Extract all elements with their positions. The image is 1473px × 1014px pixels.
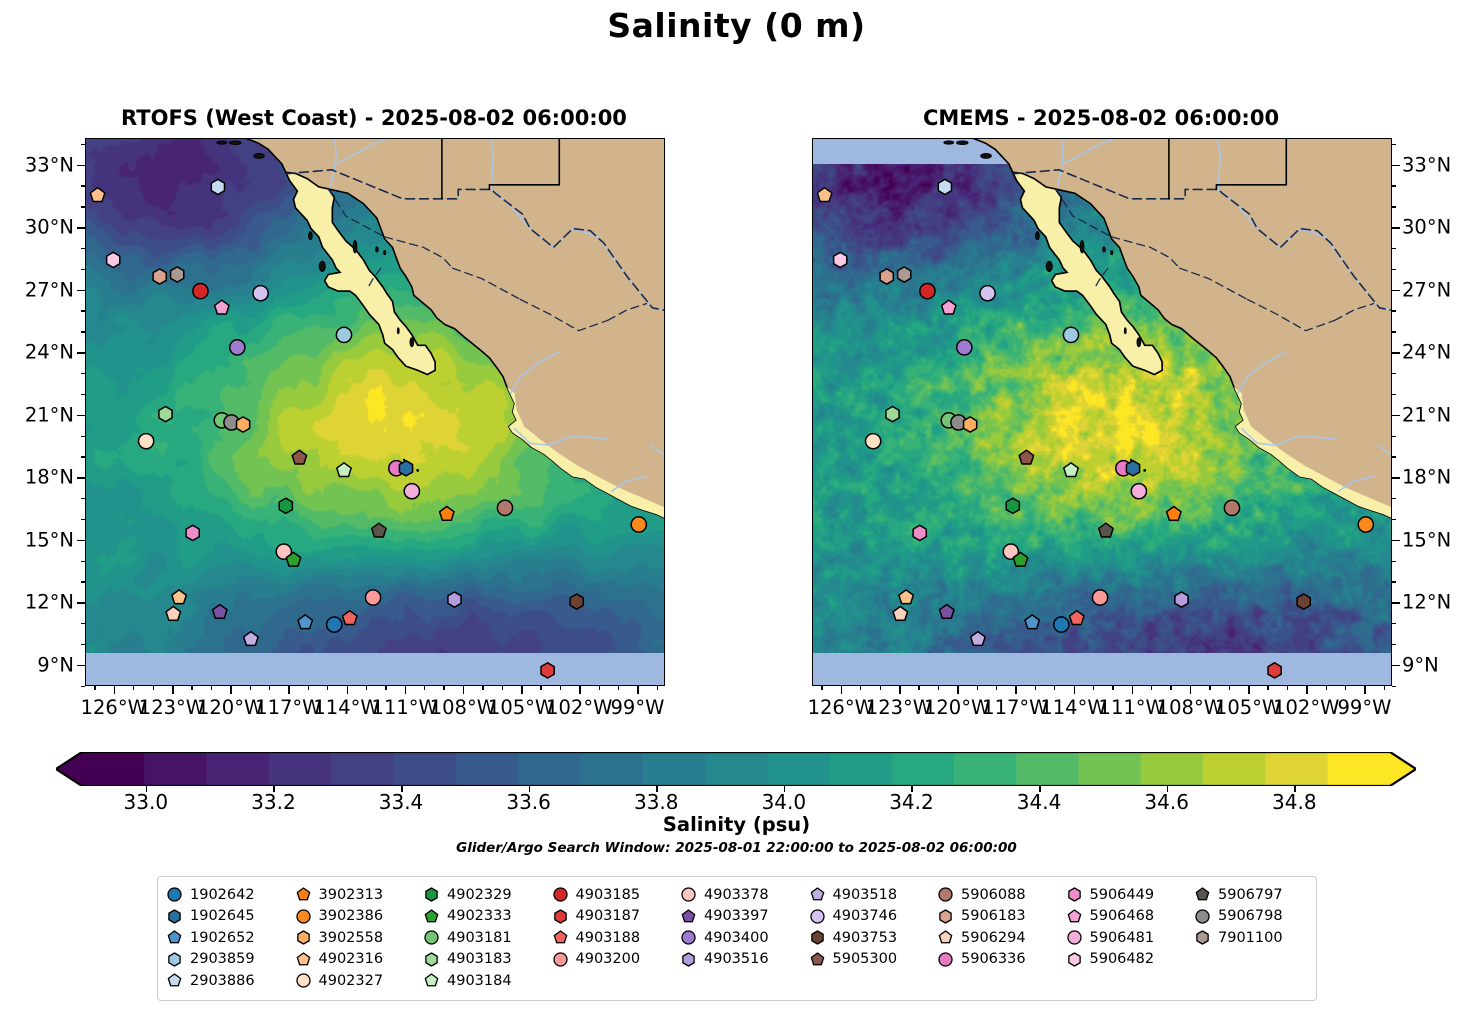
colorbar-segment-2 <box>207 752 270 786</box>
ytick-minor-cmems <box>1392 581 1397 582</box>
legend-label: 1902645 <box>190 908 255 924</box>
xtick-major-2-rtofs <box>230 686 232 694</box>
float-marker-4903518-cmems[interactable] <box>971 632 985 646</box>
ytick-minor-cmems <box>1392 686 1397 687</box>
legend-label: 2903886 <box>190 973 255 989</box>
float-marker-2903859-rtofs[interactable] <box>336 327 351 342</box>
legend-marker-pentagon-icon <box>166 972 183 989</box>
legend-label: 5906336 <box>961 951 1026 967</box>
xtick-major-1-cmems <box>899 686 901 694</box>
legend-label: 4902327 <box>319 973 384 989</box>
float-marker-3902313-rtofs[interactable] <box>440 507 454 521</box>
panel-title-cmems: CMEMS - 2025-08-02 06:00:00 <box>812 106 1390 130</box>
float-marker-1902645-rtofs[interactable] <box>399 461 412 476</box>
legend-entry-4903187[interactable]: 4903187 <box>552 908 681 925</box>
xtick-label-7-rtofs: 105°W <box>488 696 554 719</box>
float-marker-5906183-cmems[interactable] <box>880 269 893 284</box>
ytick-minor-cmems <box>1392 456 1397 457</box>
legend-label: 4903378 <box>704 887 769 903</box>
legend-label: 2903859 <box>190 951 255 967</box>
float-marker-3902558-rtofs[interactable] <box>237 417 250 432</box>
float-marker-2903886-cmems[interactable] <box>938 179 951 194</box>
legend-marker-hexagon-icon <box>809 929 826 946</box>
legend-entry-4903184[interactable]: 4903184 <box>423 972 552 989</box>
legend-entry-5906294[interactable]: 5906294 <box>937 929 1066 946</box>
panel-title-rtofs: RTOFS (West Coast) - 2025-08-02 06:00:00 <box>85 106 663 130</box>
legend-marker-circle-icon <box>295 972 312 989</box>
xtick-minor-cmems <box>860 686 861 691</box>
float-marker-7901100-cmems[interactable] <box>898 267 911 282</box>
xtick-major-3-cmems <box>1015 686 1017 694</box>
legend-marker-hexagon-icon <box>1066 886 1083 903</box>
float-marker-1902652-cmems[interactable] <box>1025 615 1039 629</box>
float-marker-1902642-cmems[interactable] <box>1054 617 1069 632</box>
xtick-major-3-rtofs <box>288 686 290 694</box>
legend-marker-circle-icon <box>1194 908 1211 925</box>
ytick-minor-rtofs <box>81 561 86 562</box>
ytick-minor-rtofs <box>81 373 86 374</box>
xtick-label-3-cmems: 117°W <box>982 696 1048 719</box>
ytick-label-2-rtofs: 27°N <box>25 278 74 301</box>
figure-title: Salinity (0 m) <box>0 6 1473 45</box>
legend-entry-4903397[interactable]: 4903397 <box>680 908 809 925</box>
float-marker-4902329-rtofs[interactable] <box>279 498 292 513</box>
float-legend: 1902642390231349023294903185490337849035… <box>157 876 1317 1001</box>
float-marker-4903397-rtofs[interactable] <box>213 605 227 619</box>
legend-label: 4903200 <box>576 951 641 967</box>
colorbar-tick-label-1: 33.2 <box>251 790 296 814</box>
float-marker-5906449-rtofs[interactable] <box>186 525 199 540</box>
legend-marker-hexagon-icon <box>1194 929 1211 946</box>
float-marker-4903400-cmems[interactable] <box>957 340 972 355</box>
ytick-major-5-rtofs <box>77 477 85 479</box>
xtick-minor-cmems <box>1384 686 1385 691</box>
legend-entry-5906468[interactable]: 5906468 <box>1066 908 1195 925</box>
ytick-minor-cmems <box>1392 623 1397 624</box>
xtick-minor-rtofs <box>211 686 212 691</box>
float-marker-4903397-cmems[interactable] <box>940 605 954 619</box>
ytick-label-5-cmems: 18°N <box>1402 466 1451 489</box>
legend-entry-4902327[interactable]: 4902327 <box>295 972 424 989</box>
xtick-major-9-cmems <box>1364 686 1366 694</box>
ytick-major-7-rtofs <box>77 602 85 604</box>
float-marker-4903185-cmems[interactable] <box>920 284 935 299</box>
float-marker-4903746-cmems[interactable] <box>980 286 995 301</box>
ytick-label-3-cmems: 24°N <box>1402 341 1451 364</box>
ytick-label-5-rtofs: 18°N <box>25 466 74 489</box>
legend-entry-3902386[interactable]: 3902386 <box>295 908 424 925</box>
legend-entry-5906336[interactable]: 5906336 <box>937 951 1066 968</box>
legend-entry-4903518[interactable]: 4903518 <box>809 886 938 903</box>
float-marker-4903400-rtofs[interactable] <box>230 340 245 355</box>
xtick-major-8-rtofs <box>579 686 581 694</box>
xtick-major-7-rtofs <box>521 686 523 694</box>
xtick-minor-rtofs <box>424 686 425 691</box>
float-marker-5906294-rtofs[interactable] <box>166 607 180 621</box>
ytick-major-6-rtofs <box>77 540 85 542</box>
xtick-major-0-rtofs <box>114 686 116 694</box>
ytick-major-4-cmems <box>1392 415 1400 417</box>
colorbar-segment-14 <box>954 752 1017 786</box>
float-markers-cmems <box>813 139 1391 685</box>
legend-label: 5906482 <box>1090 951 1155 967</box>
float-marker-5906088-rtofs[interactable] <box>497 500 512 515</box>
xtick-label-4-cmems: 114°W <box>1040 696 1106 719</box>
legend-entry-4903188[interactable]: 4903188 <box>552 929 681 946</box>
float-marker-4902316-cmems[interactable] <box>817 188 831 202</box>
colorbar-segment-8 <box>580 752 643 786</box>
xtick-minor-rtofs <box>482 686 483 691</box>
legend-entry-5906183[interactable]: 5906183 <box>937 908 1066 925</box>
legend-label: 4903400 <box>704 930 769 946</box>
legend-entry-5906798[interactable]: 5906798 <box>1194 908 1323 925</box>
legend-entry-1902645[interactable]: 1902645 <box>166 908 295 925</box>
xtick-minor-rtofs <box>599 686 600 691</box>
float-marker-4902318-rtofs[interactable] <box>172 590 186 604</box>
float-marker-2903859-cmems[interactable] <box>1063 327 1078 342</box>
legend-label: 4903188 <box>576 930 641 946</box>
float-marker-4903188-cmems[interactable] <box>1070 611 1084 625</box>
xtick-label-0-cmems: 126°W <box>808 696 874 719</box>
float-marker-1902645-cmems[interactable] <box>1126 461 1139 476</box>
legend-entry-7901100[interactable]: 7901100 <box>1194 929 1323 946</box>
legend-label: 5906088 <box>961 887 1026 903</box>
xtick-label-8-rtofs: 102°W <box>546 696 612 719</box>
float-marker-4903753-rtofs[interactable] <box>570 594 583 609</box>
legend-label: 4903516 <box>704 951 769 967</box>
ytick-minor-cmems <box>1392 269 1397 270</box>
legend-entry-4903185[interactable]: 4903185 <box>552 886 681 903</box>
xtick-major-7-cmems <box>1248 686 1250 694</box>
legend-entry-4902329[interactable]: 4902329 <box>423 886 552 903</box>
xtick-minor-cmems <box>1054 686 1055 691</box>
ytick-label-4-cmems: 21°N <box>1402 403 1451 426</box>
ytick-minor-cmems <box>1392 436 1397 437</box>
xtick-major-0-cmems <box>841 686 843 694</box>
xtick-label-5-cmems: 111°W <box>1099 696 1165 719</box>
float-marker-4903200-rtofs[interactable] <box>365 590 380 605</box>
colorbar-extend-max <box>1390 752 1416 786</box>
xtick-label-1-rtofs: 123°W <box>139 696 205 719</box>
legend-entry-4903183[interactable]: 4903183 <box>423 951 552 968</box>
ytick-minor-rtofs <box>81 394 86 395</box>
legend-entry-1902642[interactable]: 1902642 <box>166 886 295 903</box>
float-marker-3902386-cmems[interactable] <box>1358 517 1373 532</box>
float-marker-1902652-rtofs[interactable] <box>298 615 312 629</box>
legend-entry-5906482[interactable]: 5906482 <box>1066 951 1195 968</box>
legend-label: 5906481 <box>1090 930 1155 946</box>
colorbar-segment-17 <box>1141 752 1204 786</box>
legend-label: 4902329 <box>447 887 512 903</box>
colorbar-segment-20 <box>1328 752 1391 786</box>
colorbar-tick-label-2: 33.4 <box>379 790 424 814</box>
legend-marker-pentagon-icon <box>1066 908 1083 925</box>
xtick-minor-rtofs <box>443 686 444 691</box>
ytick-label-1-rtofs: 30°N <box>25 216 74 239</box>
xtick-minor-cmems <box>1035 686 1036 691</box>
legend-marker-pentagon-icon <box>423 908 440 925</box>
float-marker-4903188-rtofs[interactable] <box>343 611 357 625</box>
xtick-label-9-cmems: 99°W <box>1338 696 1392 719</box>
float-marker-7901100-rtofs[interactable] <box>171 267 184 282</box>
float-marker-4902329-cmems[interactable] <box>1006 498 1019 513</box>
panel-cmems: CMEMS - 2025-08-02 06:00:00126°W123°W120… <box>752 104 1460 730</box>
legend-marker-pentagon-icon <box>1194 886 1211 903</box>
ytick-minor-rtofs <box>81 456 86 457</box>
float-marker-4903746-rtofs[interactable] <box>253 286 268 301</box>
ytick-minor-rtofs <box>81 519 86 520</box>
float-marker-4903183-rtofs[interactable] <box>159 407 172 422</box>
ytick-label-1-cmems: 30°N <box>1402 216 1451 239</box>
legend-entry-4902333[interactable]: 4902333 <box>423 908 552 925</box>
ytick-minor-cmems <box>1392 248 1397 249</box>
ytick-major-5-cmems <box>1392 477 1400 479</box>
legend-entry-3902558[interactable]: 3902558 <box>295 929 424 946</box>
xtick-major-6-cmems <box>1190 686 1192 694</box>
legend-entry-4903746[interactable]: 4903746 <box>809 908 938 925</box>
float-marker-4903185-rtofs[interactable] <box>193 284 208 299</box>
float-marker-2903886-rtofs[interactable] <box>211 179 224 194</box>
legend-marker-circle-icon <box>166 886 183 903</box>
legend-marker-hexagon-icon <box>680 951 697 968</box>
xtick-minor-rtofs <box>250 686 251 691</box>
legend-label: 4903187 <box>576 908 641 924</box>
legend-marker-pentagon-icon <box>295 886 312 903</box>
ytick-major-3-rtofs <box>77 352 85 354</box>
float-marker-4903187-rtofs[interactable] <box>541 663 554 678</box>
xtick-minor-rtofs <box>560 686 561 691</box>
float-marker-5906468-cmems[interactable] <box>942 300 956 314</box>
float-marker-5906797-rtofs[interactable] <box>372 523 386 537</box>
float-marker-4902327-cmems[interactable] <box>866 434 881 449</box>
xtick-minor-cmems <box>821 686 822 691</box>
legend-grid: 1902642390231349023294903185490337849035… <box>166 884 1308 992</box>
legend-marker-circle-icon <box>552 951 569 968</box>
ytick-major-0-cmems <box>1392 165 1400 167</box>
xtick-minor-rtofs <box>618 686 619 691</box>
float-marker-5905300-rtofs[interactable] <box>292 450 306 464</box>
float-marker-5906482-cmems[interactable] <box>834 252 847 267</box>
legend-marker-hexagon-icon <box>423 951 440 968</box>
legend-entry-5906797[interactable]: 5906797 <box>1194 886 1323 903</box>
ytick-label-0-cmems: 33°N <box>1402 153 1451 176</box>
legend-marker-pentagon-icon <box>423 972 440 989</box>
float-marker-4902316-rtofs[interactable] <box>90 188 104 202</box>
xtick-minor-rtofs <box>366 686 367 691</box>
xtick-minor-rtofs <box>540 686 541 691</box>
legend-label: 4903183 <box>447 951 512 967</box>
float-marker-4903183-cmems[interactable] <box>886 407 899 422</box>
legend-marker-pentagon-icon <box>295 951 312 968</box>
legend-label: 4903518 <box>833 887 898 903</box>
colorbar-tick-label-9: 34.8 <box>1272 790 1317 814</box>
legend-marker-pentagon-icon <box>166 929 183 946</box>
legend-marker-circle-icon <box>937 886 954 903</box>
panel-rtofs: RTOFS (West Coast) - 2025-08-02 06:00:00… <box>25 104 733 730</box>
colorbar-segment-9 <box>643 752 706 786</box>
legend-label: 5906449 <box>1090 887 1155 903</box>
colorbar-segment-16 <box>1079 752 1142 786</box>
colorbar-segment-0 <box>82 752 145 786</box>
legend-entry-5905300[interactable]: 5905300 <box>809 951 938 968</box>
float-marker-4903516-cmems[interactable] <box>1175 592 1188 607</box>
float-marker-5906449-cmems[interactable] <box>913 525 926 540</box>
legend-label: 5905300 <box>833 951 898 967</box>
float-marker-1902642-rtofs[interactable] <box>327 617 342 632</box>
legend-marker-hexagon-icon <box>295 929 312 946</box>
xtick-minor-cmems <box>938 686 939 691</box>
float-marker-3902313-cmems[interactable] <box>1167 507 1181 521</box>
colorbar-tick-label-4: 33.8 <box>634 790 679 814</box>
legend-marker-hexagon-icon <box>423 886 440 903</box>
ytick-label-6-cmems: 15°N <box>1402 528 1451 551</box>
ytick-minor-rtofs <box>81 436 86 437</box>
ytick-minor-rtofs <box>81 206 86 207</box>
float-marker-4902318-cmems[interactable] <box>899 590 913 604</box>
xtick-label-2-rtofs: 120°W <box>197 696 263 719</box>
ytick-major-3-cmems <box>1392 352 1400 354</box>
legend-marker-circle-icon <box>1066 929 1083 946</box>
xtick-label-2-cmems: 120°W <box>924 696 990 719</box>
legend-entry-4903400[interactable]: 4903400 <box>680 929 809 946</box>
ytick-label-8-cmems: 9°N <box>1402 653 1439 676</box>
float-marker-4902327-rtofs[interactable] <box>139 434 154 449</box>
legend-entry-5906481[interactable]: 5906481 <box>1066 929 1195 946</box>
ytick-minor-cmems <box>1392 373 1397 374</box>
ytick-minor-rtofs <box>81 623 86 624</box>
legend-label: 5906468 <box>1090 908 1155 924</box>
colorbar-segment-18 <box>1203 752 1266 786</box>
xtick-minor-rtofs <box>502 686 503 691</box>
map-rtofs[interactable] <box>85 138 665 686</box>
float-marker-5906482-rtofs[interactable] <box>107 252 120 267</box>
xtick-label-6-cmems: 108°W <box>1157 696 1223 719</box>
ytick-minor-rtofs <box>81 686 86 687</box>
float-marker-5906481-rtofs[interactable] <box>404 484 419 499</box>
legend-entry-1902652[interactable]: 1902652 <box>166 929 295 946</box>
legend-label: 7901100 <box>1218 930 1283 946</box>
ytick-minor-rtofs <box>81 144 86 145</box>
xtick-label-3-rtofs: 117°W <box>255 696 321 719</box>
xtick-major-5-cmems <box>1132 686 1134 694</box>
float-marker-4903518-rtofs[interactable] <box>244 632 258 646</box>
xtick-label-5-rtofs: 111°W <box>372 696 438 719</box>
float-marker-5906294-cmems[interactable] <box>893 607 907 621</box>
colorbar-extend-min <box>56 752 82 786</box>
xtick-minor-rtofs <box>308 686 309 691</box>
float-marker-5906088-cmems[interactable] <box>1224 500 1239 515</box>
legend-label: 3902558 <box>319 930 384 946</box>
legend-marker-hexagon-icon <box>1066 951 1083 968</box>
xtick-minor-cmems <box>880 686 881 691</box>
search-window-text: Glider/Argo Search Window: 2025-08-01 22… <box>0 840 1473 856</box>
float-marker-5906481-cmems[interactable] <box>1131 484 1146 499</box>
ytick-major-0-rtofs <box>77 165 85 167</box>
ytick-major-8-rtofs <box>77 665 85 667</box>
float-marker-5906797-cmems[interactable] <box>1099 523 1113 537</box>
ytick-minor-cmems <box>1392 206 1397 207</box>
float-marker-5906468-rtofs[interactable] <box>215 300 229 314</box>
float-marker-4903187-cmems[interactable] <box>1268 663 1281 678</box>
ytick-minor-cmems <box>1392 394 1397 395</box>
ytick-major-8-cmems <box>1392 665 1400 667</box>
float-marker-5906183-rtofs[interactable] <box>153 269 166 284</box>
ytick-minor-cmems <box>1392 185 1397 186</box>
colorbar-tick-label-6: 34.2 <box>889 790 934 814</box>
ytick-major-7-cmems <box>1392 602 1400 604</box>
legend-label: 4903181 <box>447 930 512 946</box>
legend-entry-4903753[interactable]: 4903753 <box>809 929 938 946</box>
legend-entry-4903378[interactable]: 4903378 <box>680 886 809 903</box>
legend-marker-circle-icon <box>295 908 312 925</box>
xtick-minor-rtofs <box>385 686 386 691</box>
legend-entry-3902313[interactable]: 3902313 <box>295 886 424 903</box>
legend-marker-circle-icon <box>937 951 954 968</box>
legend-label: 5906798 <box>1218 908 1283 924</box>
legend-label: 4902316 <box>319 951 384 967</box>
float-marker-4903753-cmems[interactable] <box>1297 594 1310 609</box>
xtick-major-6-rtofs <box>463 686 465 694</box>
float-marker-4903516-rtofs[interactable] <box>448 592 461 607</box>
legend-marker-hexagon-icon <box>552 908 569 925</box>
xtick-minor-cmems <box>1170 686 1171 691</box>
ytick-major-2-rtofs <box>77 290 85 292</box>
ytick-minor-rtofs <box>81 581 86 582</box>
legend-label: 4903397 <box>704 908 769 924</box>
float-markers-rtofs <box>86 139 664 685</box>
ytick-major-1-cmems <box>1392 227 1400 229</box>
map-cmems[interactable] <box>812 138 1392 686</box>
legend-label: 4903184 <box>447 973 512 989</box>
legend-entry-4903181[interactable]: 4903181 <box>423 929 552 946</box>
ytick-minor-cmems <box>1392 519 1397 520</box>
ytick-major-4-rtofs <box>77 415 85 417</box>
colorbar-segment-10 <box>705 752 768 786</box>
xtick-minor-cmems <box>1267 686 1268 691</box>
colorbar-segment-11 <box>767 752 830 786</box>
float-marker-3902558-cmems[interactable] <box>964 417 977 432</box>
ytick-major-6-cmems <box>1392 540 1400 542</box>
xtick-minor-cmems <box>1345 686 1346 691</box>
colorbar-tick-label-7: 34.4 <box>1017 790 1062 814</box>
legend-entry-5906449[interactable]: 5906449 <box>1066 886 1195 903</box>
ytick-label-7-cmems: 12°N <box>1402 591 1451 614</box>
float-marker-4903184-cmems[interactable] <box>1064 463 1078 477</box>
legend-marker-circle-icon <box>423 929 440 946</box>
xtick-minor-cmems <box>1287 686 1288 691</box>
xtick-minor-rtofs <box>657 686 658 691</box>
legend-entry-4903200[interactable]: 4903200 <box>552 951 681 968</box>
float-marker-4903184-rtofs[interactable] <box>337 463 351 477</box>
ytick-minor-cmems <box>1392 644 1397 645</box>
colorbar <box>56 752 1416 786</box>
float-marker-4903200-cmems[interactable] <box>1092 590 1107 605</box>
float-marker-3902386-rtofs[interactable] <box>631 517 646 532</box>
xtick-minor-cmems <box>1229 686 1230 691</box>
legend-entry-4902316[interactable]: 4902316 <box>295 951 424 968</box>
legend-marker-circle-icon <box>680 886 697 903</box>
legend-entry-2903886[interactable]: 2903886 <box>166 972 295 989</box>
float-marker-5905300-cmems[interactable] <box>1019 450 1033 464</box>
xtick-minor-cmems <box>1093 686 1094 691</box>
colorbar-segment-1 <box>144 752 207 786</box>
legend-entry-2903859[interactable]: 2903859 <box>166 951 295 968</box>
legend-entry-5906088[interactable]: 5906088 <box>937 886 1066 903</box>
legend-entry-4903516[interactable]: 4903516 <box>680 951 809 968</box>
xtick-minor-rtofs <box>191 686 192 691</box>
legend-marker-hexagon-icon <box>166 951 183 968</box>
ytick-minor-rtofs <box>81 644 86 645</box>
